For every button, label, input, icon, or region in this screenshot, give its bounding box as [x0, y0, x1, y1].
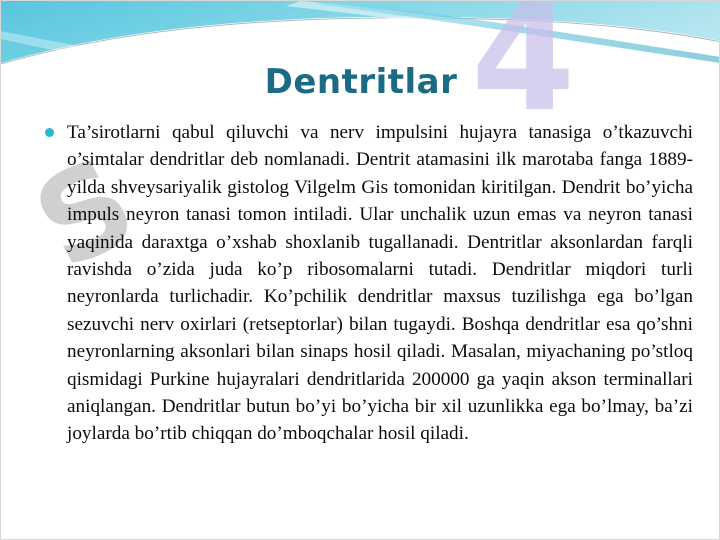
list-item: Ta’sirotlarni qabul qiluvchi va nerv imp… [37, 119, 693, 448]
body-paragraph: Ta’sirotlarni qabul qiluvchi va nerv imp… [67, 119, 693, 448]
bullet-dot-icon [45, 128, 54, 137]
content-body: Ta’sirotlarni qabul qiluvchi va nerv imp… [37, 119, 693, 448]
page-title: Dentritlar [1, 61, 720, 103]
presentation-slide: 4 S Dentritlar Ta’sirotlarni qabul qiluv… [0, 0, 720, 540]
